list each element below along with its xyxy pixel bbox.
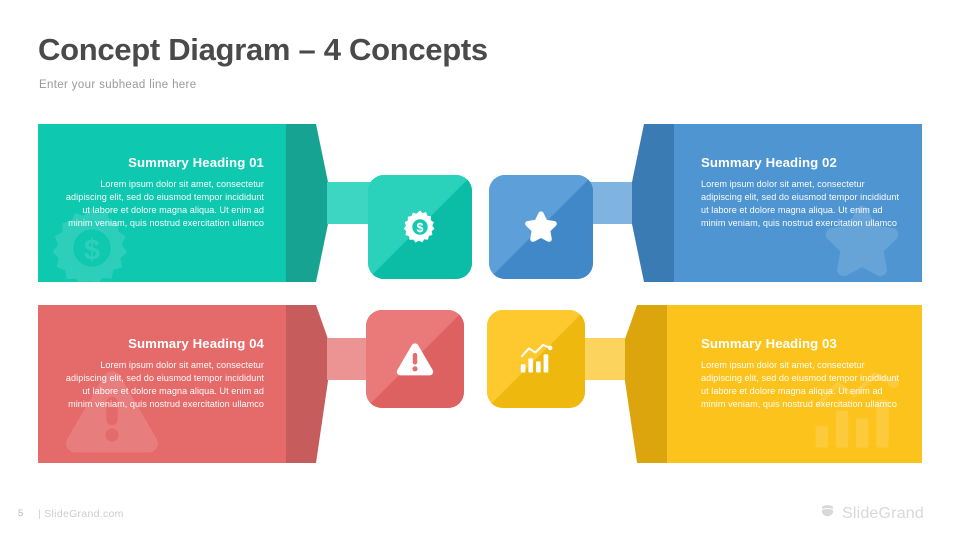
brand-name: SlideGrand — [842, 505, 924, 523]
icon-box-02[interactable] — [489, 175, 593, 279]
footer-site-label: | SlideGrand.com — [38, 508, 124, 520]
connector-trapezoid-01 — [286, 124, 328, 282]
concept-panel-03[interactable]: Summary Heading 03 Lorem ipsum dolor sit… — [666, 305, 922, 463]
stacked-disc-icon — [819, 503, 836, 525]
icon-box-01[interactable]: $ — [368, 175, 472, 279]
concept-heading-04: Summary Heading 04 — [60, 337, 264, 352]
slide-canvas: Concept Diagram – 4 Concepts Enter your … — [0, 0, 960, 540]
svg-text:$: $ — [417, 221, 424, 235]
connector-trapezoid-02 — [632, 124, 674, 282]
page-title: Concept Diagram – 4 Concepts — [38, 32, 488, 68]
page-subhead: Enter your subhead line here — [39, 79, 196, 91]
page-number: 5 — [18, 508, 23, 519]
svg-text:$: $ — [84, 235, 100, 267]
icon-box-03[interactable] — [487, 310, 585, 408]
concept-heading-01: Summary Heading 01 — [60, 156, 264, 171]
concept-text-03: Summary Heading 03 Lorem ipsum dolor sit… — [666, 337, 922, 411]
concept-text-01: Summary Heading 01 Lorem ipsum dolor sit… — [38, 156, 286, 230]
concept-heading-03: Summary Heading 03 — [701, 337, 900, 352]
gear-dollar-icon: $ — [368, 175, 472, 279]
concept-body-03: Lorem ipsum dolor sit amet, consectetur … — [701, 359, 900, 411]
connector-bar-03 — [583, 338, 627, 380]
connector-bar-02 — [590, 182, 634, 224]
bar-chart-icon — [487, 310, 585, 408]
connector-trapezoid-04 — [286, 305, 328, 463]
icon-box-04[interactable] — [366, 310, 464, 408]
concept-panel-02[interactable]: Summary Heading 02 Lorem ipsum dolor sit… — [673, 124, 922, 282]
connector-bar-04 — [327, 338, 371, 380]
concept-panel-04[interactable]: Summary Heading 04 Lorem ipsum dolor sit… — [38, 305, 286, 463]
connector-bar-01 — [327, 182, 371, 224]
warning-triangle-icon — [366, 310, 464, 408]
brand-logo: SlideGrand — [819, 503, 924, 525]
concept-body-04: Lorem ipsum dolor sit amet, consectetur … — [60, 359, 264, 411]
star-icon — [489, 175, 593, 279]
concept-text-02: Summary Heading 02 Lorem ipsum dolor sit… — [673, 156, 922, 230]
connector-trapezoid-03 — [625, 305, 667, 463]
concept-text-04: Summary Heading 04 Lorem ipsum dolor sit… — [38, 337, 286, 411]
concept-body-01: Lorem ipsum dolor sit amet, consectetur … — [60, 178, 264, 230]
concept-body-02: Lorem ipsum dolor sit amet, consectetur … — [701, 178, 900, 230]
concept-panel-01[interactable]: $ Summary Heading 01 Lorem ipsum dolor s… — [38, 124, 286, 282]
concept-heading-02: Summary Heading 02 — [701, 156, 900, 171]
